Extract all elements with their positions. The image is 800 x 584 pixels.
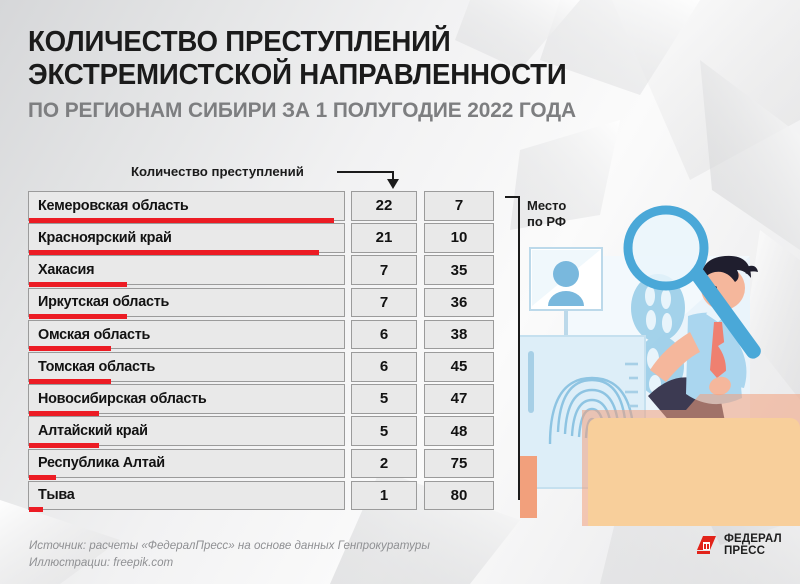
page-title-line-2: ЭКСТРЕМИСТСКОЙ НАПРАВЛЕННОСТИ <box>28 59 649 92</box>
count-bar <box>29 443 99 448</box>
region-name-label: Республика Алтай <box>29 455 165 471</box>
count-bar <box>29 475 56 480</box>
region-name-label: Иркутская область <box>29 294 169 310</box>
rank-cell: 75 <box>424 449 494 479</box>
table-row: Тыва180 <box>28 481 503 511</box>
count-cell: 7 <box>351 288 417 318</box>
region-name-cell: Красноярский край <box>28 223 345 253</box>
source-text: Источник: расчеты «ФедералПресс» на осно… <box>29 538 430 555</box>
table-row: Новосибирская область547 <box>28 384 503 414</box>
rank-cell: 10 <box>424 223 494 253</box>
table-row: Томская область645 <box>28 352 503 382</box>
illustration-credit: Иллюстрации: freepik.com <box>29 555 430 572</box>
count-cell: 6 <box>351 320 417 350</box>
federalpress-logo[interactable]: ФЕДЕРАЛ ПРЕСС <box>694 526 790 564</box>
region-name-label: Новосибирская область <box>29 391 207 407</box>
count-cell: 5 <box>351 384 417 414</box>
page-subtitle: ПО РЕГИОНАМ СИБИРИ ЗА 1 ПОЛУГОДИЕ 2022 Г… <box>28 99 649 123</box>
table-row: Хакасия735 <box>28 255 503 285</box>
count-cell: 2 <box>351 449 417 479</box>
region-name-cell: Тыва <box>28 481 345 511</box>
region-name-cell: Хакасия <box>28 255 345 285</box>
count-bar <box>29 507 43 512</box>
region-name-cell: Кемеровская область <box>28 191 345 221</box>
table-row: Республика Алтай275 <box>28 449 503 479</box>
count-bar <box>29 250 319 255</box>
count-bar <box>29 282 127 287</box>
count-cell: 22 <box>351 191 417 221</box>
table-row: Иркутская область736 <box>28 288 503 318</box>
count-bar <box>29 346 111 351</box>
rank-cell: 47 <box>424 384 494 414</box>
region-name-label: Тыва <box>29 487 75 503</box>
table-row: Алтайский край548 <box>28 416 503 446</box>
count-cell: 5 <box>351 416 417 446</box>
rank-cell: 38 <box>424 320 494 350</box>
count-cell: 1 <box>351 481 417 511</box>
folder-icon <box>582 394 800 526</box>
region-name-label: Омская область <box>29 327 150 343</box>
page-title-line-1: КОЛИЧЕСТВО ПРЕСТУПЛЕНИЙ <box>28 26 649 59</box>
count-cell: 6 <box>351 352 417 382</box>
region-name-label: Кемеровская область <box>29 198 189 214</box>
count-bar <box>29 411 99 416</box>
count-bar <box>29 314 127 319</box>
caption-arrow-icon <box>337 166 405 192</box>
logo-mark-icon <box>694 533 718 557</box>
header: КОЛИЧЕСТВО ПРЕСТУПЛЕНИЙ ЭКСТРЕМИСТСКОЙ Н… <box>28 26 668 123</box>
count-bar <box>29 218 334 223</box>
region-name-cell: Новосибирская область <box>28 384 345 414</box>
rank-cell: 35 <box>424 255 494 285</box>
table-row: Омская область638 <box>28 320 503 350</box>
count-cell: 21 <box>351 223 417 253</box>
footer-credits: Источник: расчеты «ФедералПресс» на осно… <box>29 538 430 572</box>
table-row: Кемеровская область227 <box>28 191 503 221</box>
count-cell: 7 <box>351 255 417 285</box>
rank-cell: 48 <box>424 416 494 446</box>
region-name-label: Красноярский край <box>29 230 172 246</box>
logo-wordmark: ФЕДЕРАЛ ПРЕСС <box>724 533 782 558</box>
rank-cell: 45 <box>424 352 494 382</box>
region-name-cell: Республика Алтай <box>28 449 345 479</box>
region-name-label: Алтайский край <box>29 423 148 439</box>
data-table: Кемеровская область227Красноярский край2… <box>28 191 503 513</box>
region-name-cell: Алтайский край <box>28 416 345 446</box>
region-name-cell: Иркутская область <box>28 288 345 318</box>
count-bar <box>29 379 111 384</box>
region-name-cell: Томская область <box>28 352 345 382</box>
table-row: Красноярский край2110 <box>28 223 503 253</box>
detective-illustration <box>520 196 800 526</box>
region-name-label: Томская область <box>29 359 155 375</box>
infographic-root: КОЛИЧЕСТВО ПРЕСТУПЛЕНИЙ ЭКСТРЕМИСТСКОЙ Н… <box>0 0 800 584</box>
rank-cell: 80 <box>424 481 494 511</box>
region-name-cell: Омская область <box>28 320 345 350</box>
rank-cell: 36 <box>424 288 494 318</box>
rank-cell: 7 <box>424 191 494 221</box>
logo-line-2: ПРЕСС <box>724 545 782 557</box>
column-caption-count: Количество преступлений <box>131 164 304 179</box>
region-name-label: Хакасия <box>29 262 94 278</box>
